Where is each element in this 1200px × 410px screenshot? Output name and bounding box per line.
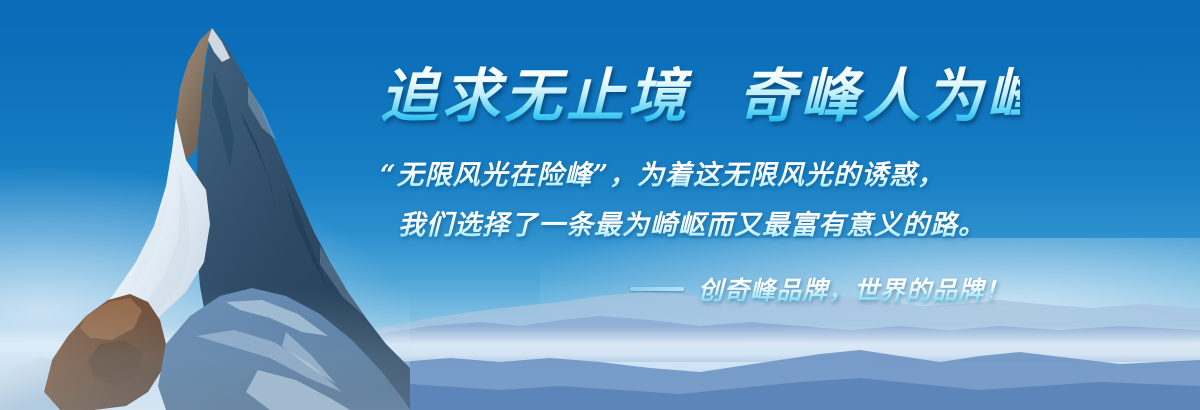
em-dash-rule xyxy=(630,287,684,291)
banner-tagline-row: 创奇峰品牌，世界的品牌！ xyxy=(380,271,1020,307)
banner-subtitle-line-2: 我们选择了一条最为崎岖而又最富有意义的路。 xyxy=(380,202,1020,249)
banner-text-block: 追求无止境 奇峰人为峰 “无限风光在险峰”，为着这无限风光的诱惑， 我们选择了一… xyxy=(380,62,1020,307)
banner-headline: 追求无止境 奇峰人为峰 xyxy=(380,62,1020,130)
hero-banner: 追求无止境 奇峰人为峰 “无限风光在险峰”，为着这无限风光的诱惑， 我们选择了一… xyxy=(0,0,1200,410)
banner-tagline: 创奇峰品牌，世界的品牌！ xyxy=(698,271,1010,307)
matterhorn-peak-image xyxy=(0,0,410,410)
banner-subtitle-line-1: “无限风光在险峰”，为着这无限风光的诱惑， xyxy=(380,152,1020,199)
